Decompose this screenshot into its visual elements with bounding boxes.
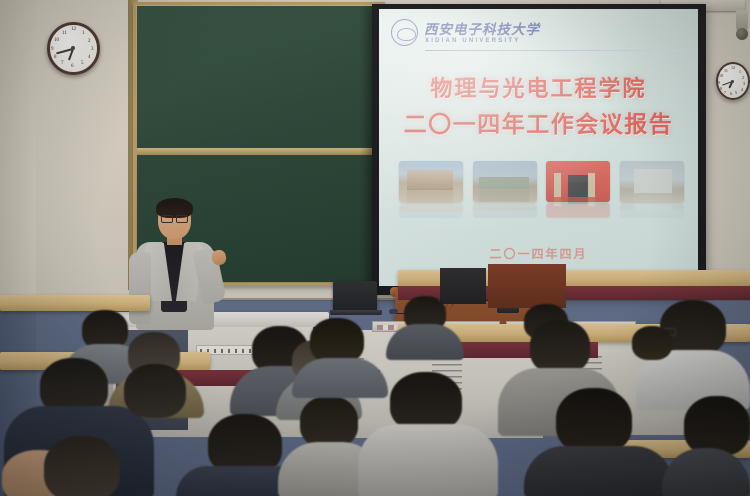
audience-shoulders [524,446,674,496]
left-wall-panel [0,0,36,306]
university-name-en: XIDIAN UNIVERSITY [425,38,520,44]
desk-row-back-left [0,295,150,311]
clock-center-pin [731,80,734,83]
audience-head [684,396,750,456]
audience-shoulders [292,358,388,398]
slide-date: 二〇一四年四月 [379,245,698,262]
thumbnail-4 [620,161,684,219]
thumbnail-reflection [546,203,610,218]
logo-divider-rule [425,50,683,51]
lecture-hall-photo: 12 1 2 3 4 5 6 7 8 9 10 11 12 1 2 3 4 5 … [0,0,750,496]
mouse-device [389,309,398,314]
wooden-door-panel [488,264,566,308]
thumbnail-reflection [620,203,684,218]
audience-head [44,436,120,496]
speaker-arm-left [129,252,151,324]
audience-head [390,372,462,432]
thumbnail-reflection [473,203,537,218]
speaker-glasses-icon [161,215,188,221]
clock-center-pin [71,46,75,50]
door-dark-panel [440,268,486,304]
audience-head [300,396,358,448]
slide-title-line-1: 物理与光电工程学院 [379,71,698,103]
blackboard-chalk-rail [137,148,381,155]
slide-title-line-2: 二〇一四年工作会议报告 [379,105,698,139]
thumbnail-2 [473,161,537,219]
laptop-base [330,310,382,315]
presenter-laptop [333,281,377,311]
right-wall-clock: 12 1 2 3 4 5 6 7 8 9 10 11 [716,62,750,100]
audience-head [530,320,590,374]
slide-thumbnail-row [399,161,684,219]
audience-shoulders [358,424,498,496]
audience-head [556,388,632,454]
slide-logo-row: 西安电子科技大学 XIDIAN UNIVERSITY [391,17,683,51]
university-seal-icon [391,19,418,46]
thumbnail-1 [399,161,463,219]
audience-head [124,364,186,418]
thumbnail-reflection [399,203,463,218]
audience-head [632,326,672,360]
left-wall-clock: 12 1 2 3 4 5 6 7 8 9 10 11 [47,22,100,75]
projection-screen: 西安电子科技大学 XIDIAN UNIVERSITY 物理与光电工程学院 二〇一… [379,9,698,286]
thumbnail-3 [546,161,610,219]
university-name-cn: 西安电子科技大学 [424,18,540,38]
seated-audience [0,330,750,496]
mount-knob-icon [736,28,748,40]
